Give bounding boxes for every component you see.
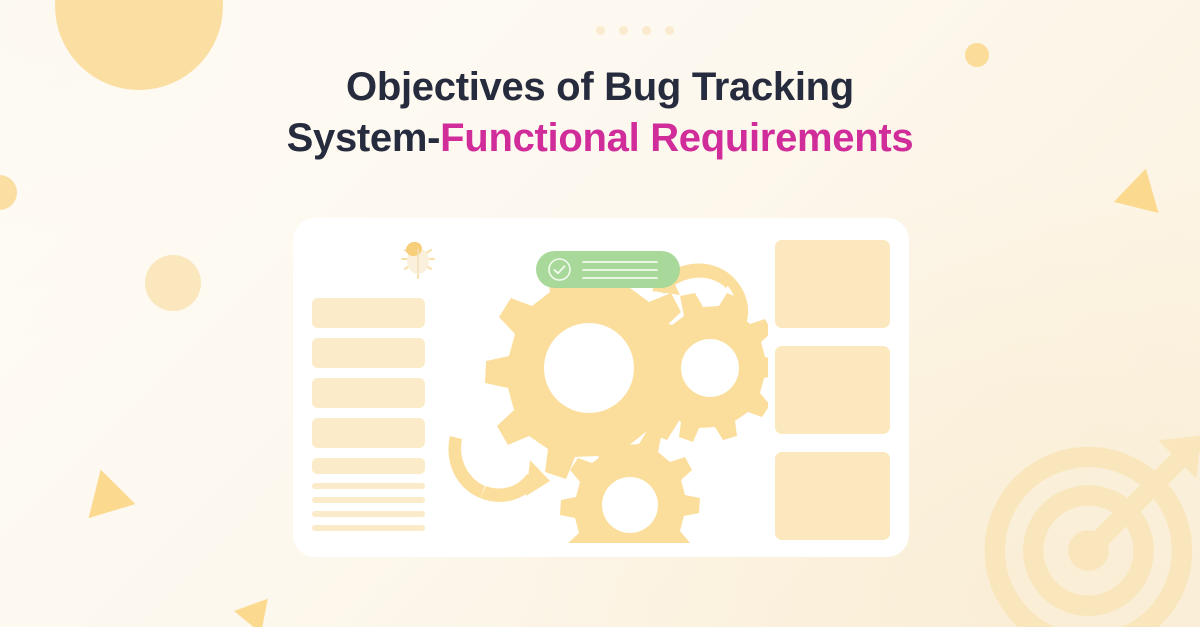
list-item: [312, 338, 425, 368]
dot-1: [596, 26, 605, 35]
target-arrow-icon: [978, 421, 1200, 627]
page-title-line-1: Objectives of Bug Tracking: [346, 65, 854, 109]
circle-medium-left: [145, 255, 201, 311]
placeholder-list: [312, 298, 425, 539]
dot-3: [642, 26, 651, 35]
card-block: [775, 346, 890, 434]
page-title: Objectives of Bug Tracking System-Functi…: [0, 62, 1200, 164]
refresh-arrow-bottom: [448, 436, 550, 502]
list-line: [312, 483, 425, 489]
badge-line-2: [582, 269, 658, 271]
list-item: [312, 378, 425, 408]
card-block: [775, 240, 890, 328]
banner-stage: Objectives of Bug Tracking System-Functi…: [0, 0, 1200, 627]
badge-line-1: [582, 261, 658, 263]
badge-line-3: [582, 277, 658, 279]
page-title-line-2-accent: Functional Requirements: [440, 116, 913, 160]
triangle-top-right: [1114, 163, 1168, 213]
dot-row-top: [596, 26, 674, 35]
dot-4: [665, 26, 674, 35]
triangle-bottom-left-small: [234, 599, 278, 627]
badge-lines: [582, 261, 658, 279]
circle-small-left-edge: [0, 175, 17, 210]
list-item: [312, 418, 425, 448]
list-line: [312, 497, 425, 503]
list-line: [312, 511, 425, 517]
check-circle-icon: [547, 257, 572, 282]
card-block: [775, 452, 890, 540]
status-badge: [536, 251, 680, 288]
triangle-bottom-left-large: [89, 470, 142, 529]
list-item: [312, 298, 425, 328]
list-line: [312, 525, 425, 531]
page-title-line-2-dark: System-: [287, 116, 441, 160]
dot-2: [619, 26, 628, 35]
placeholder-cards: [775, 240, 890, 540]
bug-icon: [396, 237, 440, 281]
list-item: [312, 458, 425, 474]
